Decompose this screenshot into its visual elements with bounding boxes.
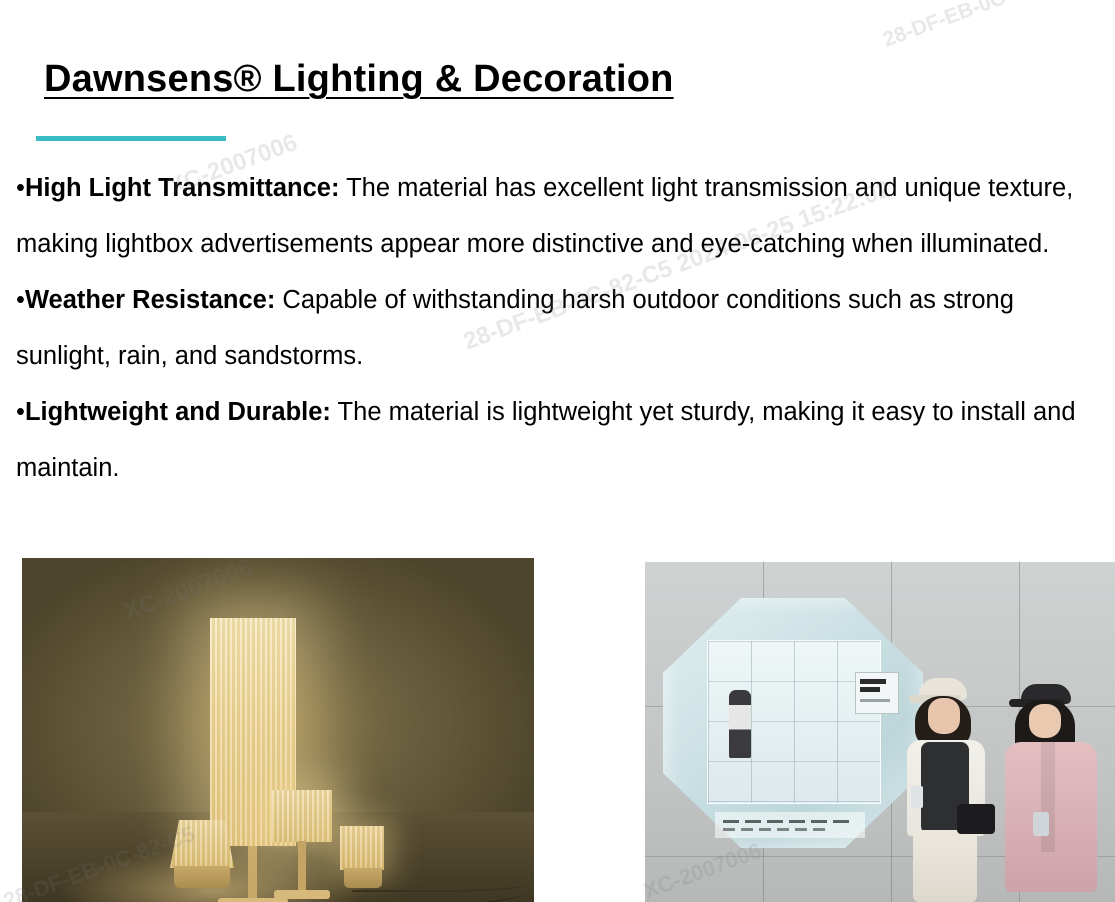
trousers <box>913 830 977 902</box>
feature-paragraph-3: •Lightweight and Durable: The material i… <box>16 384 1094 496</box>
sign-line-3 <box>860 699 890 702</box>
face <box>1029 704 1061 738</box>
floor-and-table-lamps-photo <box>22 558 534 902</box>
bullet-3: • <box>16 398 25 426</box>
handbag <box>957 804 995 834</box>
dome-table-lamp-shade <box>170 820 234 868</box>
feature-paragraph-2: •Weather Resistance: Capable of withstan… <box>16 272 1094 384</box>
lightbox-caption-strip <box>715 812 865 838</box>
accent-divider <box>36 136 226 141</box>
mini-table-lamp-shade <box>340 826 384 870</box>
feature-lead-3: Lightweight and Durable: <box>25 398 331 426</box>
square-table-lamp-shade <box>272 790 332 842</box>
person-inside-display <box>729 690 751 758</box>
feature-list: •High Light Transmittance: The material … <box>16 160 1094 496</box>
bullet-2: • <box>16 286 25 314</box>
shopper-in-pink-coat <box>997 684 1109 902</box>
phone <box>911 786 923 808</box>
slide-page: Dawnsens® Lighting & Decoration •High Li… <box>0 0 1115 902</box>
sign-line-2 <box>860 687 880 692</box>
sign-line-1 <box>860 679 886 684</box>
page-title: Dawnsens® Lighting & Decoration <box>44 58 674 101</box>
floor-lamp-stem <box>248 846 257 901</box>
bullet-1: • <box>16 174 25 202</box>
wall-sign <box>855 672 899 714</box>
phone <box>1033 812 1049 836</box>
face <box>928 698 960 734</box>
feature-paragraph-1: •High Light Transmittance: The material … <box>16 160 1094 272</box>
power-cable-secondary <box>352 876 527 892</box>
shopper-in-cap <box>895 678 999 902</box>
octagonal-lightbox-display-photo <box>645 562 1115 902</box>
dome-table-lamp-base <box>174 866 230 888</box>
feature-lead-2: Weather Resistance: <box>25 286 275 314</box>
feature-lead-1: High Light Transmittance: <box>25 174 340 202</box>
